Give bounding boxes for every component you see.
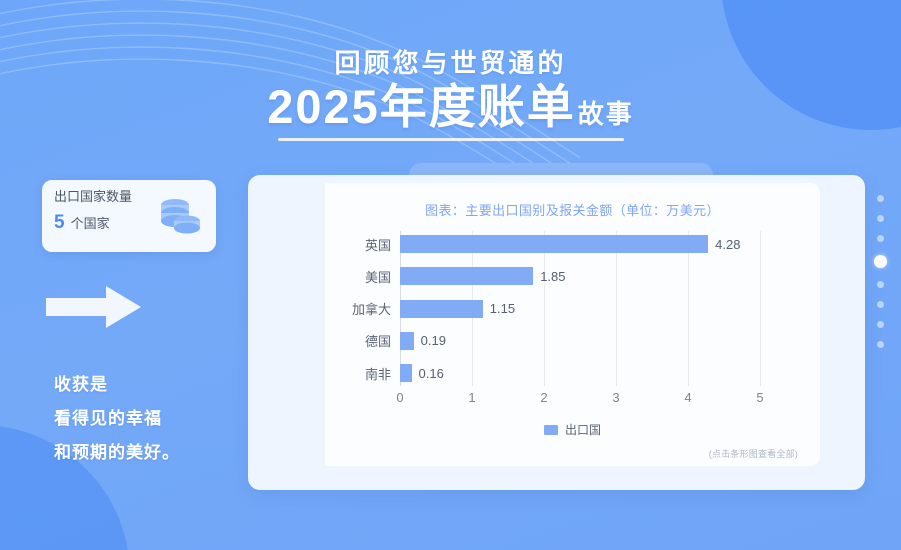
dot-nav-item[interactable] <box>877 321 884 328</box>
chart-bar-row[interactable]: 南非0.16 <box>400 364 760 382</box>
chart-bar-value-label: 1.85 <box>540 269 565 284</box>
arrow-right-icon <box>46 286 141 333</box>
chart-x-tick-label: 4 <box>684 390 691 405</box>
chart-title: 图表：主要出口国别及报关金额（单位：万美元） <box>325 200 820 219</box>
chart-bar-row[interactable]: 德国0.19 <box>400 332 760 350</box>
chart-bar-value-label: 1.15 <box>490 301 515 316</box>
chart-bar[interactable] <box>400 364 412 382</box>
chart-category-label: 英国 <box>365 235 391 254</box>
chart-bar[interactable] <box>400 267 533 285</box>
title-underline <box>278 138 624 141</box>
dot-nav-item[interactable] <box>877 235 884 242</box>
dot-nav-item[interactable] <box>877 281 884 288</box>
chart-bar-value-label: 0.16 <box>419 366 444 381</box>
stat-card-value-row: 5 个国家 <box>54 213 132 232</box>
chart-x-tick-label: 3 <box>612 390 619 405</box>
chart-bar[interactable] <box>400 332 414 350</box>
stat-card-label: 出口国家数量 <box>54 190 132 204</box>
tagline-line-2: 看得见的幸福 <box>54 402 180 436</box>
tagline-block: 收获是 看得见的幸福 和预期的美好。 <box>54 368 180 470</box>
stat-card-export-countries[interactable]: 出口国家数量 5 个国家 <box>42 180 216 252</box>
chart-x-tick-label: 1 <box>468 390 475 405</box>
stat-card-unit: 个国家 <box>71 213 110 232</box>
chart-bar-row[interactable]: 美国1.85 <box>400 267 760 285</box>
dot-nav-item[interactable] <box>877 341 884 348</box>
title-main-tail: 故事 <box>578 90 634 138</box>
gridline <box>760 231 761 386</box>
chart-bar[interactable] <box>400 300 483 318</box>
legend-swatch-icon <box>544 425 558 435</box>
chart-x-tick-label: 0 <box>396 390 403 405</box>
tagline-line-1: 收获是 <box>54 368 180 402</box>
database-stack-icon <box>158 196 202 243</box>
chart-x-axis: 012345 <box>400 390 760 408</box>
chart-bar-value-label: 0.19 <box>421 333 446 348</box>
decorative-wave-lines <box>0 0 580 190</box>
chart-x-tick-label: 2 <box>540 390 547 405</box>
tagline-line-3: 和预期的美好。 <box>54 436 180 470</box>
dot-nav-item-active[interactable] <box>874 255 887 268</box>
chart-bar-rows[interactable]: 英国4.28美国1.85加拿大1.15德国0.19南非0.16 <box>400 231 760 386</box>
chart-footnote: (点击条形图查看全部) <box>709 447 798 460</box>
chart-x-tick-label: 5 <box>756 390 763 405</box>
chart-category-label: 南非 <box>365 364 391 383</box>
chart-bar-row[interactable]: 加拿大1.15 <box>400 300 760 318</box>
chart-panel[interactable]: 图表：主要出口国别及报关金额（单位：万美元） 英国4.28美国1.85加拿大1.… <box>325 183 820 466</box>
dot-nav-item[interactable] <box>877 215 884 222</box>
chart-category-label: 美国 <box>365 267 391 286</box>
chart-bar-value-label: 4.28 <box>715 237 740 252</box>
chart-category-label: 德国 <box>365 331 391 350</box>
decorative-circle-top-right <box>721 0 901 130</box>
dot-nav-item[interactable] <box>877 301 884 308</box>
slide-dot-navigation[interactable] <box>874 195 887 348</box>
legend-label: 出口国 <box>565 421 601 438</box>
dot-nav-item[interactable] <box>877 195 884 202</box>
chart-bar[interactable] <box>400 235 708 253</box>
chart-category-label: 加拿大 <box>352 299 391 318</box>
slide-canvas: 回顾您与世贸通的 2025年度账单 故事 出口国家数量 5 个国家 <box>0 0 901 550</box>
stat-card-texts: 出口国家数量 5 个国家 <box>54 190 132 232</box>
chart-legend[interactable]: 出口国 <box>325 421 820 438</box>
stat-card-value: 5 <box>54 213 65 232</box>
chart-plot-area[interactable]: 英国4.28美国1.85加拿大1.15德国0.19南非0.16 <box>400 231 760 386</box>
chart-bar-row[interactable]: 英国4.28 <box>400 235 760 253</box>
